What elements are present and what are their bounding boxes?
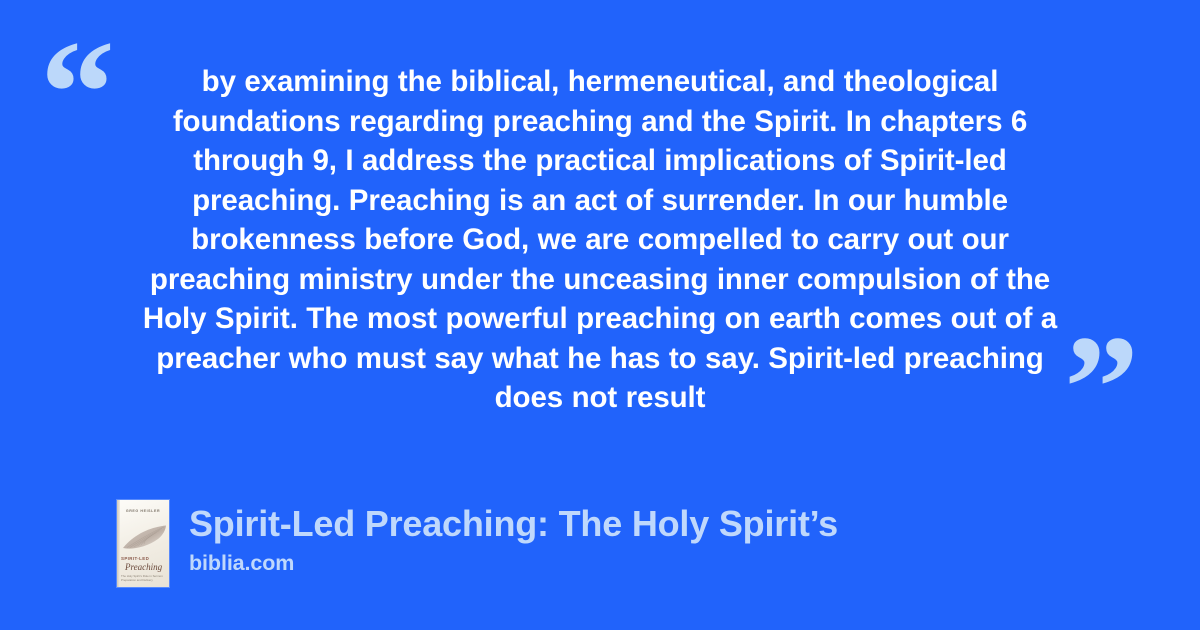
cover-title-line-1: SPIRIT-LED [121,556,149,561]
cover-subtitle-text: The Holy Spirit’s Role in Sermon Prepara… [121,574,165,582]
book-title[interactable]: Spirit-Led Preaching: The Holy Spirit’s [189,502,838,546]
quote-body: by examining the biblical, hermeneutical… [132,62,1068,418]
footer-text-block: Spirit-Led Preaching: The Holy Spirit’s … [189,500,838,576]
closing-quote-icon: ” [1064,313,1137,463]
site-name[interactable]: biblia.com [189,550,838,576]
cover-title-line-2: Preaching [125,562,162,572]
book-cover-thumbnail[interactable]: GREG HEISLER [117,500,169,587]
quote-card: “ ” by examining the biblical, hermeneut… [0,0,1200,630]
footer: GREG HEISLER [117,500,838,587]
opening-quote-icon: “ [40,18,113,168]
cover-author-text: GREG HEISLER [117,509,169,513]
quote-text: by examining the biblical, hermeneutical… [132,62,1068,418]
cover-wing-icon [121,524,167,554]
cover-spine [117,500,120,587]
